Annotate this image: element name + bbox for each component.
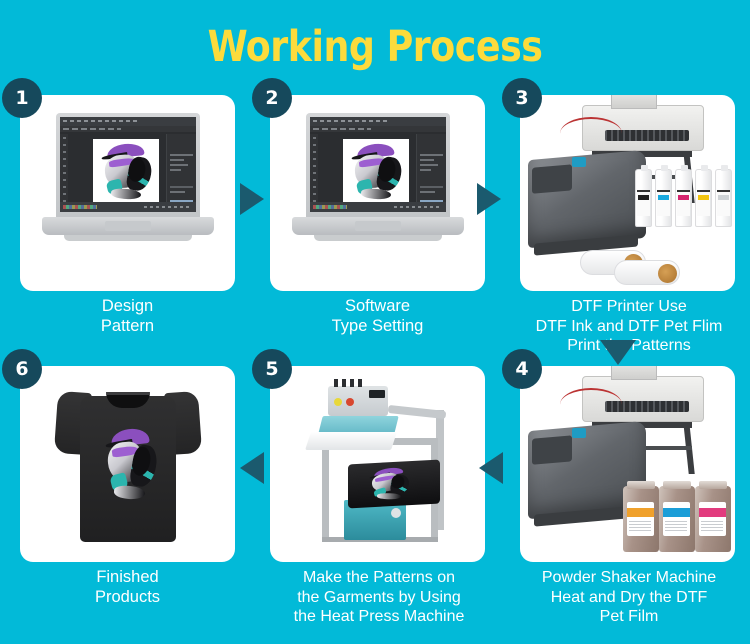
step-5-image-panel: [270, 366, 485, 562]
laptop-icon: [42, 113, 214, 243]
step-number-badge-5: 5: [252, 349, 292, 389]
ink-bottle-white: [715, 169, 732, 227]
software-toolbar: [60, 117, 196, 126]
laptop-keyboard-base: [292, 217, 464, 235]
caption-line: Pattern: [0, 317, 255, 337]
graffiti-artwork: [97, 143, 155, 201]
step-card-3[interactable]: 3 DTF Printer Use DTF Ink and DTF Pet Fl…: [500, 95, 750, 375]
laptop-foot: [314, 235, 442, 241]
caption-line: DTF Ink and DTF Pet Flim: [500, 317, 750, 337]
caption-line: Design: [0, 297, 255, 317]
design-canvas: [93, 139, 159, 205]
step-6-image-panel: [20, 366, 235, 562]
printed-tshirt-icon: [58, 382, 198, 544]
step-caption-2: Software Type Setting: [250, 297, 505, 336]
dtf-pet-film-rolls: [580, 251, 686, 285]
ink-bottle-black: [635, 169, 652, 227]
step-caption-1: Design Pattern: [0, 297, 255, 336]
laptop-screen: [60, 117, 196, 212]
step-card-4[interactable]: 4 Powder Shaker Machine Heat and Dry the…: [500, 366, 750, 644]
step-1-image-panel: [20, 95, 235, 291]
caption-line: Heat and Dry the DTF: [500, 588, 750, 608]
caption-line: Powder Shaker Machine: [500, 568, 750, 588]
powder-bag-pink: [695, 486, 731, 552]
software-menubar: [60, 126, 196, 132]
arrow-step1-to-step2: [240, 183, 264, 215]
film-roll: [614, 260, 680, 285]
ink-bottle-yellow: [695, 169, 712, 227]
caption-line: DTF Printer Use: [500, 297, 750, 317]
step-number-badge-2: 2: [252, 78, 292, 118]
arrow-step5-to-step6: [240, 452, 264, 484]
caption-line: Pet Film: [500, 607, 750, 627]
laptop-screen: [310, 117, 446, 212]
printer-control-knob: [572, 157, 586, 167]
laptop-keyboard-base: [42, 217, 214, 235]
laptop-foot: [64, 235, 192, 241]
arrow-step2-to-step3: [477, 183, 501, 215]
artwork-tail: [114, 485, 146, 500]
heat-press-illustration: [270, 366, 485, 562]
artwork-tail: [111, 188, 142, 201]
step-caption-6: Finished Products: [0, 568, 255, 607]
powder-shaker-illustration: [520, 366, 735, 562]
caption-line: the Garments by Using: [250, 588, 508, 608]
software-tool-palette: [60, 134, 68, 202]
software-toolbar: [310, 117, 446, 126]
caption-line: Software: [250, 297, 505, 317]
design-canvas: [343, 139, 409, 205]
step-3-image-panel: [520, 95, 735, 291]
shaker-control-knob: [572, 428, 586, 438]
software-layers-panel: [416, 134, 446, 202]
step-number-badge-6: 6: [2, 349, 42, 389]
caption-line: Products: [0, 588, 255, 608]
arrow-step4-to-step5: [479, 452, 503, 484]
arrow-step3-to-step4: [600, 340, 636, 365]
step-4-image-panel: [520, 366, 735, 562]
step-card-6[interactable]: 6 Finished Products: [0, 366, 250, 644]
software-menubar: [310, 126, 446, 132]
dtf-printer-illustration: [520, 95, 735, 291]
software-layers-panel: [166, 134, 196, 202]
press-slide-tray: [305, 432, 397, 450]
step-card-5[interactable]: 5 Make the Patterns on the Garments by U…: [250, 366, 500, 644]
steps-row-bottom: 6 Finished Products: [0, 366, 750, 626]
laptop-design-software-illustration: [20, 95, 235, 291]
laptop-lid: [306, 113, 450, 217]
step-number-badge-1: 1: [2, 78, 42, 118]
software-statusbar: [60, 202, 196, 212]
page-title: Working Process: [23, 22, 728, 72]
powder-bag-orange: [623, 486, 659, 552]
step-number-badge-4: 4: [502, 349, 542, 389]
press-indicator-light-yellow: [334, 398, 342, 406]
infographic-page: Working Process: [0, 0, 750, 644]
step-caption-4: Powder Shaker Machine Heat and Dry the D…: [500, 568, 750, 627]
garment-on-press: [348, 460, 440, 509]
dtf-ink-bottles: [635, 169, 731, 231]
caption-line: Finished: [0, 568, 255, 588]
step-card-1[interactable]: 1 Design Pattern: [0, 95, 250, 375]
caption-line: Make the Patterns on: [250, 568, 508, 588]
printer-body: [528, 150, 646, 248]
graffiti-artwork: [100, 428, 160, 500]
finished-tshirt-illustration: [20, 366, 235, 562]
software-tool-palette: [310, 134, 318, 202]
step-number-badge-3: 3: [502, 78, 542, 118]
laptop-design-software-illustration: [270, 95, 485, 291]
artwork-swirl: [389, 473, 410, 494]
powder-bag-blue: [659, 486, 695, 552]
caption-line: Type Setting: [250, 317, 505, 337]
graffiti-artwork: [347, 143, 405, 201]
graffiti-artwork: [366, 466, 412, 500]
step-card-2[interactable]: 2 Software Type Setting: [250, 95, 500, 375]
ink-bottle-magenta: [675, 169, 692, 227]
step-2-image-panel: [270, 95, 485, 291]
laptop-icon: [292, 113, 464, 243]
step-caption-5: Make the Patterns on the Garments by Usi…: [250, 568, 508, 627]
software-statusbar: [310, 202, 446, 212]
ink-bottle-cyan: [655, 169, 672, 227]
press-indicator-light-red: [346, 398, 354, 406]
dtf-powder-bags: [623, 478, 733, 552]
steps-row-top: 1 Design Pattern: [0, 95, 750, 355]
heat-press-machine-icon: [300, 380, 458, 548]
caption-line: the Heat Press Machine: [250, 607, 508, 627]
artwork-tail: [377, 493, 401, 499]
artwork-tail: [361, 188, 392, 201]
laptop-lid: [56, 113, 200, 217]
